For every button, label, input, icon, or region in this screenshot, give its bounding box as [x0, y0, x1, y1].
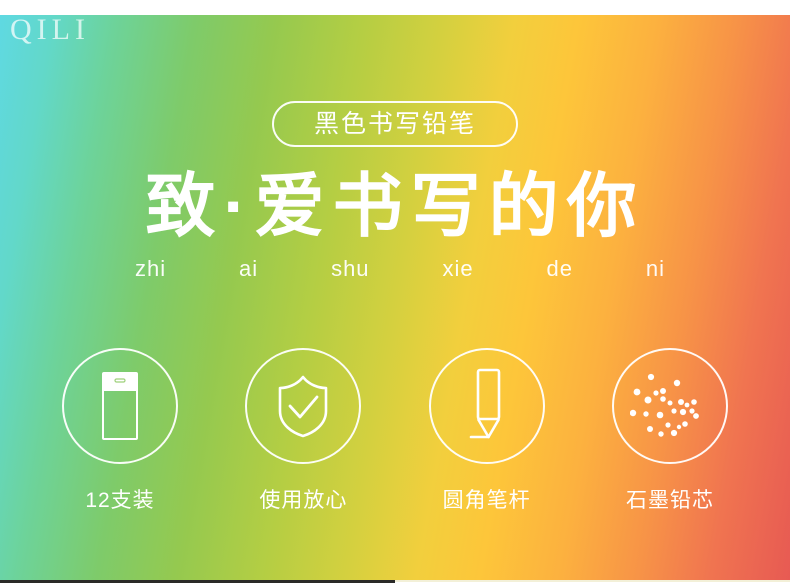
product-category-badge: 黑色书写铅笔 — [272, 101, 518, 147]
feature-icon-circle — [612, 348, 728, 464]
shield-check-icon — [273, 373, 333, 439]
feature-item-graphite: 石墨铅芯 — [590, 348, 750, 511]
feature-list: 12支装 使用放心 — [40, 348, 750, 511]
badge-label: 黑色书写铅笔 — [314, 112, 476, 137]
feature-label: 12支装 — [85, 490, 154, 511]
pinyin-shu: shu — [331, 258, 369, 280]
feature-label: 使用放心 — [259, 490, 347, 511]
pinyin-row: zhi ai shu xie de ni — [135, 258, 665, 280]
feature-icon-circle — [62, 348, 178, 464]
pinyin-xie: xie — [442, 258, 473, 280]
feature-item-pack: 12支装 — [40, 348, 200, 511]
feature-item-barrel: 圆角笔杆 — [407, 348, 567, 511]
feature-item-trust: 使用放心 — [223, 348, 383, 511]
feature-label: 圆角笔杆 — [443, 490, 531, 511]
product-banner: QILI 黑色书写铅笔 致·爱书写的你 zhi ai shu xie de ni — [0, 0, 790, 587]
pencil-icon — [462, 367, 512, 445]
page-title: 致·爱书写的你 — [0, 168, 790, 245]
feature-label: 石墨铅芯 — [626, 490, 714, 511]
feature-icon-circle — [245, 348, 361, 464]
bottom-divider — [0, 580, 790, 587]
pinyin-ni: ni — [646, 258, 665, 280]
pinyin-de: de — [546, 258, 572, 280]
pencil-pack-box-icon — [93, 370, 147, 442]
brand-logo: QILI — [10, 15, 90, 45]
graphite-particles-icon — [630, 367, 710, 445]
pinyin-ai: ai — [239, 258, 258, 280]
pinyin-zhi: zhi — [135, 258, 166, 280]
feature-icon-circle — [429, 348, 545, 464]
